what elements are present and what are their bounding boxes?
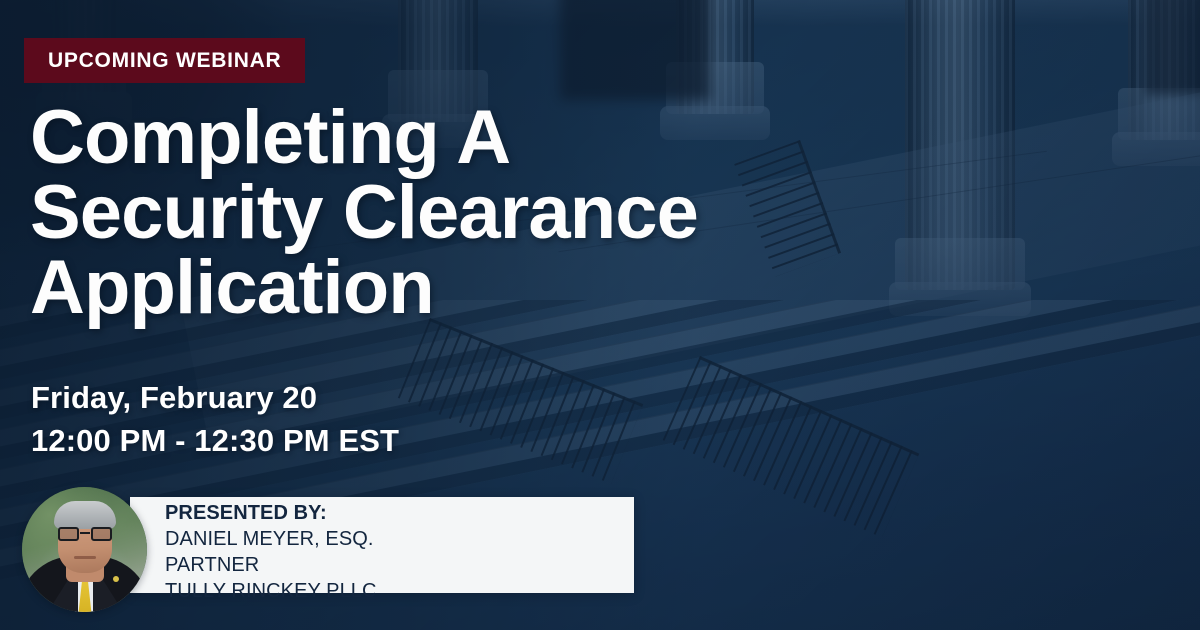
avatar-hair <box>54 501 116 529</box>
avatar-mouth <box>74 556 96 559</box>
event-time: 12:00 PM - 12:30 PM EST <box>31 420 399 463</box>
event-date: Friday, February 20 <box>31 377 399 420</box>
presenter-title: PARTNER <box>165 552 377 578</box>
presenter-name: DANIEL MEYER, ESQ. <box>165 526 377 552</box>
glasses-icon <box>57 527 113 541</box>
upcoming-webinar-badge: UPCOMING WEBINAR <box>24 38 305 83</box>
presenter-details: PRESENTED BY: DANIEL MEYER, ESQ. PARTNER… <box>165 500 377 604</box>
webinar-promo-graphic: UPCOMING WEBINAR Completing A Security C… <box>0 0 1200 630</box>
presenter-organization: TULLY RINCKEY PLLC <box>165 578 377 604</box>
page-title: Completing A Security Clearance Applicat… <box>30 100 980 326</box>
headline-line-2: Security Clearance <box>30 175 980 250</box>
headline-line-3: Application <box>30 250 980 325</box>
presented-by-label: PRESENTED BY: <box>165 500 377 526</box>
presenter-avatar <box>22 487 147 612</box>
avatar-lapel-pin <box>113 576 119 582</box>
event-schedule: Friday, February 20 12:00 PM - 12:30 PM … <box>31 377 399 463</box>
headline-line-1: Completing A <box>30 100 980 175</box>
